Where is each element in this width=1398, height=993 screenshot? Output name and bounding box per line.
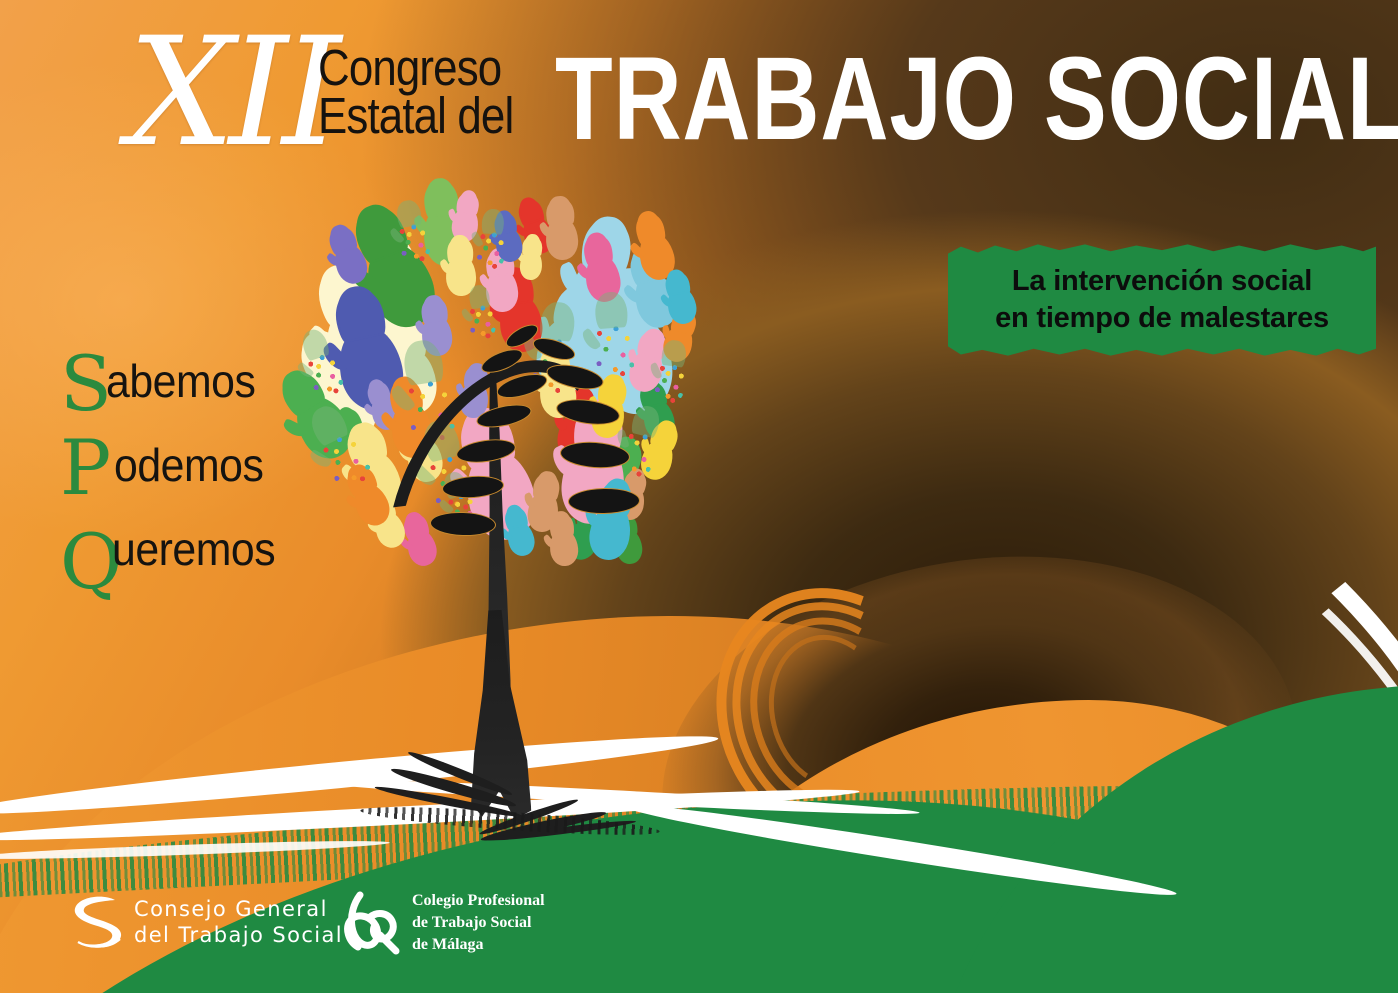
logo-colegio-malaga: Colegio Profesional de Trabajo Social de…: [340, 890, 545, 956]
tree-of-hands-illustration: [300, 200, 730, 800]
theme-banner: La intervención social en tiempo de male…: [948, 242, 1376, 358]
logo-consejo-line-1: Consejo General: [134, 897, 343, 923]
hand-shape: [519, 249, 543, 280]
logo-colegio-line-1: Colegio Profesional: [412, 890, 545, 912]
logo-consejo-general: Consejo General del Trabajo Social: [70, 894, 343, 952]
edition-numeral: XII: [128, 18, 335, 168]
theme-banner-line-1: La intervención social: [1012, 263, 1312, 300]
slogan-initial-p: P: [60, 430, 111, 506]
logo-colegio-line-2: de Trabajo Social: [412, 912, 545, 934]
kicker-line-1: Congreso: [318, 44, 513, 92]
kicker-text: Congreso Estatal del: [318, 44, 513, 140]
footer-logos: Consejo General del Trabajo Social Coleg…: [0, 880, 1398, 993]
kicker-line-2: Estatal del: [318, 92, 513, 140]
slogan-rest-sabemos: abemos: [106, 358, 255, 404]
logo-colegio-text: Colegio Profesional de Trabajo Social de…: [412, 890, 545, 956]
brushstroke-monogram-icon: [340, 891, 402, 955]
logo-colegio-line-3: de Málaga: [412, 934, 545, 956]
page-title: TRABAJO SOCIAL: [555, 40, 1398, 158]
stylized-s-swoosh-icon: [70, 894, 124, 952]
slogan-rest-podemos: odemos: [114, 442, 263, 488]
theme-banner-line-2: en tiempo de malestares: [995, 300, 1329, 337]
logo-consejo-line-2: del Trabajo Social: [134, 923, 343, 949]
congress-poster: XII Congreso Estatal del TRABAJO SOCIAL …: [0, 0, 1398, 993]
slogan-rest-queremos: ueremos: [112, 526, 275, 572]
slogan-initial-s: S: [60, 346, 112, 422]
poster-headline: XII Congreso Estatal del TRABAJO SOCIAL: [0, 0, 1398, 200]
logo-consejo-text: Consejo General del Trabajo Social: [134, 897, 343, 948]
hand-shape: [545, 217, 580, 261]
